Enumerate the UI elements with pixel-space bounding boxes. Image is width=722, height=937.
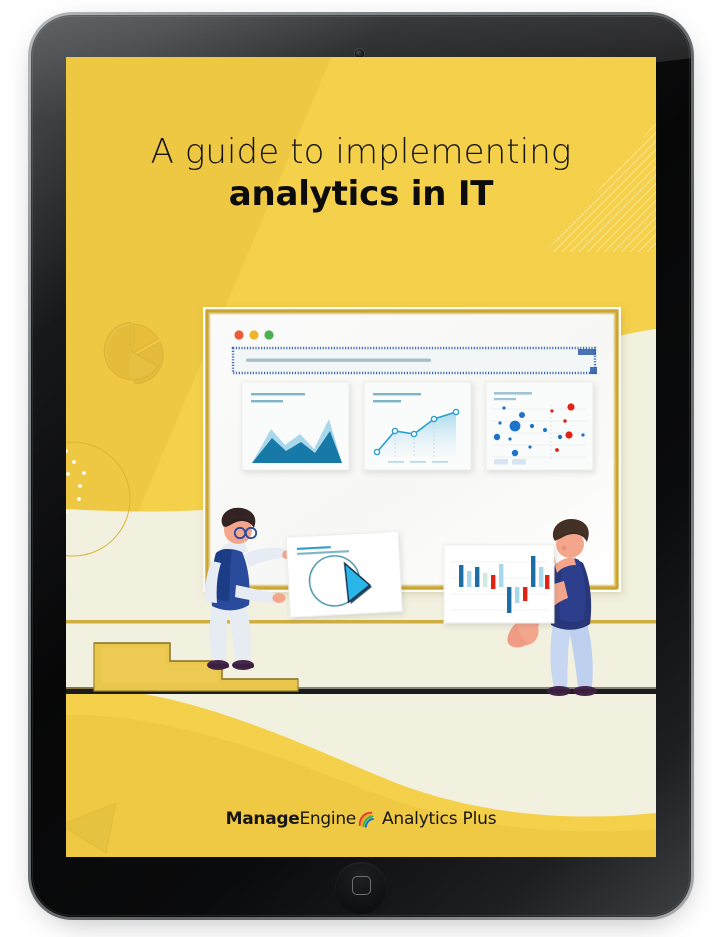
home-button-square-icon: [352, 876, 371, 895]
title-line-2: analytics in IT: [66, 172, 656, 218]
minimize-dot-icon: [249, 330, 258, 339]
search-input: [246, 359, 431, 362]
staircase: [94, 643, 298, 691]
title-line-1: A guide to implementing: [66, 133, 656, 172]
brand-logo: Manage Engine Analytics Plus: [66, 809, 656, 829]
bubble-chart-card: [486, 382, 593, 470]
logo-engine-text: Engine: [299, 809, 355, 829]
close-dot-icon: [234, 330, 243, 339]
pie-chart-card: [286, 531, 402, 617]
maximize-dot-icon: [264, 330, 273, 339]
manageengine-swoosh-icon: [357, 810, 376, 829]
logo-product-text: Analytics Plus: [382, 809, 496, 829]
cover-title: A guide to implementing analytics in IT: [66, 133, 656, 218]
line-chart-card: [364, 382, 471, 470]
candlestick-chart-card: [444, 545, 554, 623]
area-chart-card: [242, 382, 349, 470]
window-dots: [234, 330, 273, 339]
logo-manage-text: Manage: [226, 809, 300, 829]
search-bar: [233, 348, 597, 374]
tablet-screen: A guide to implementing analytics in IT: [66, 57, 656, 857]
screenshot-stage: A guide to implementing analytics in IT: [0, 0, 722, 937]
